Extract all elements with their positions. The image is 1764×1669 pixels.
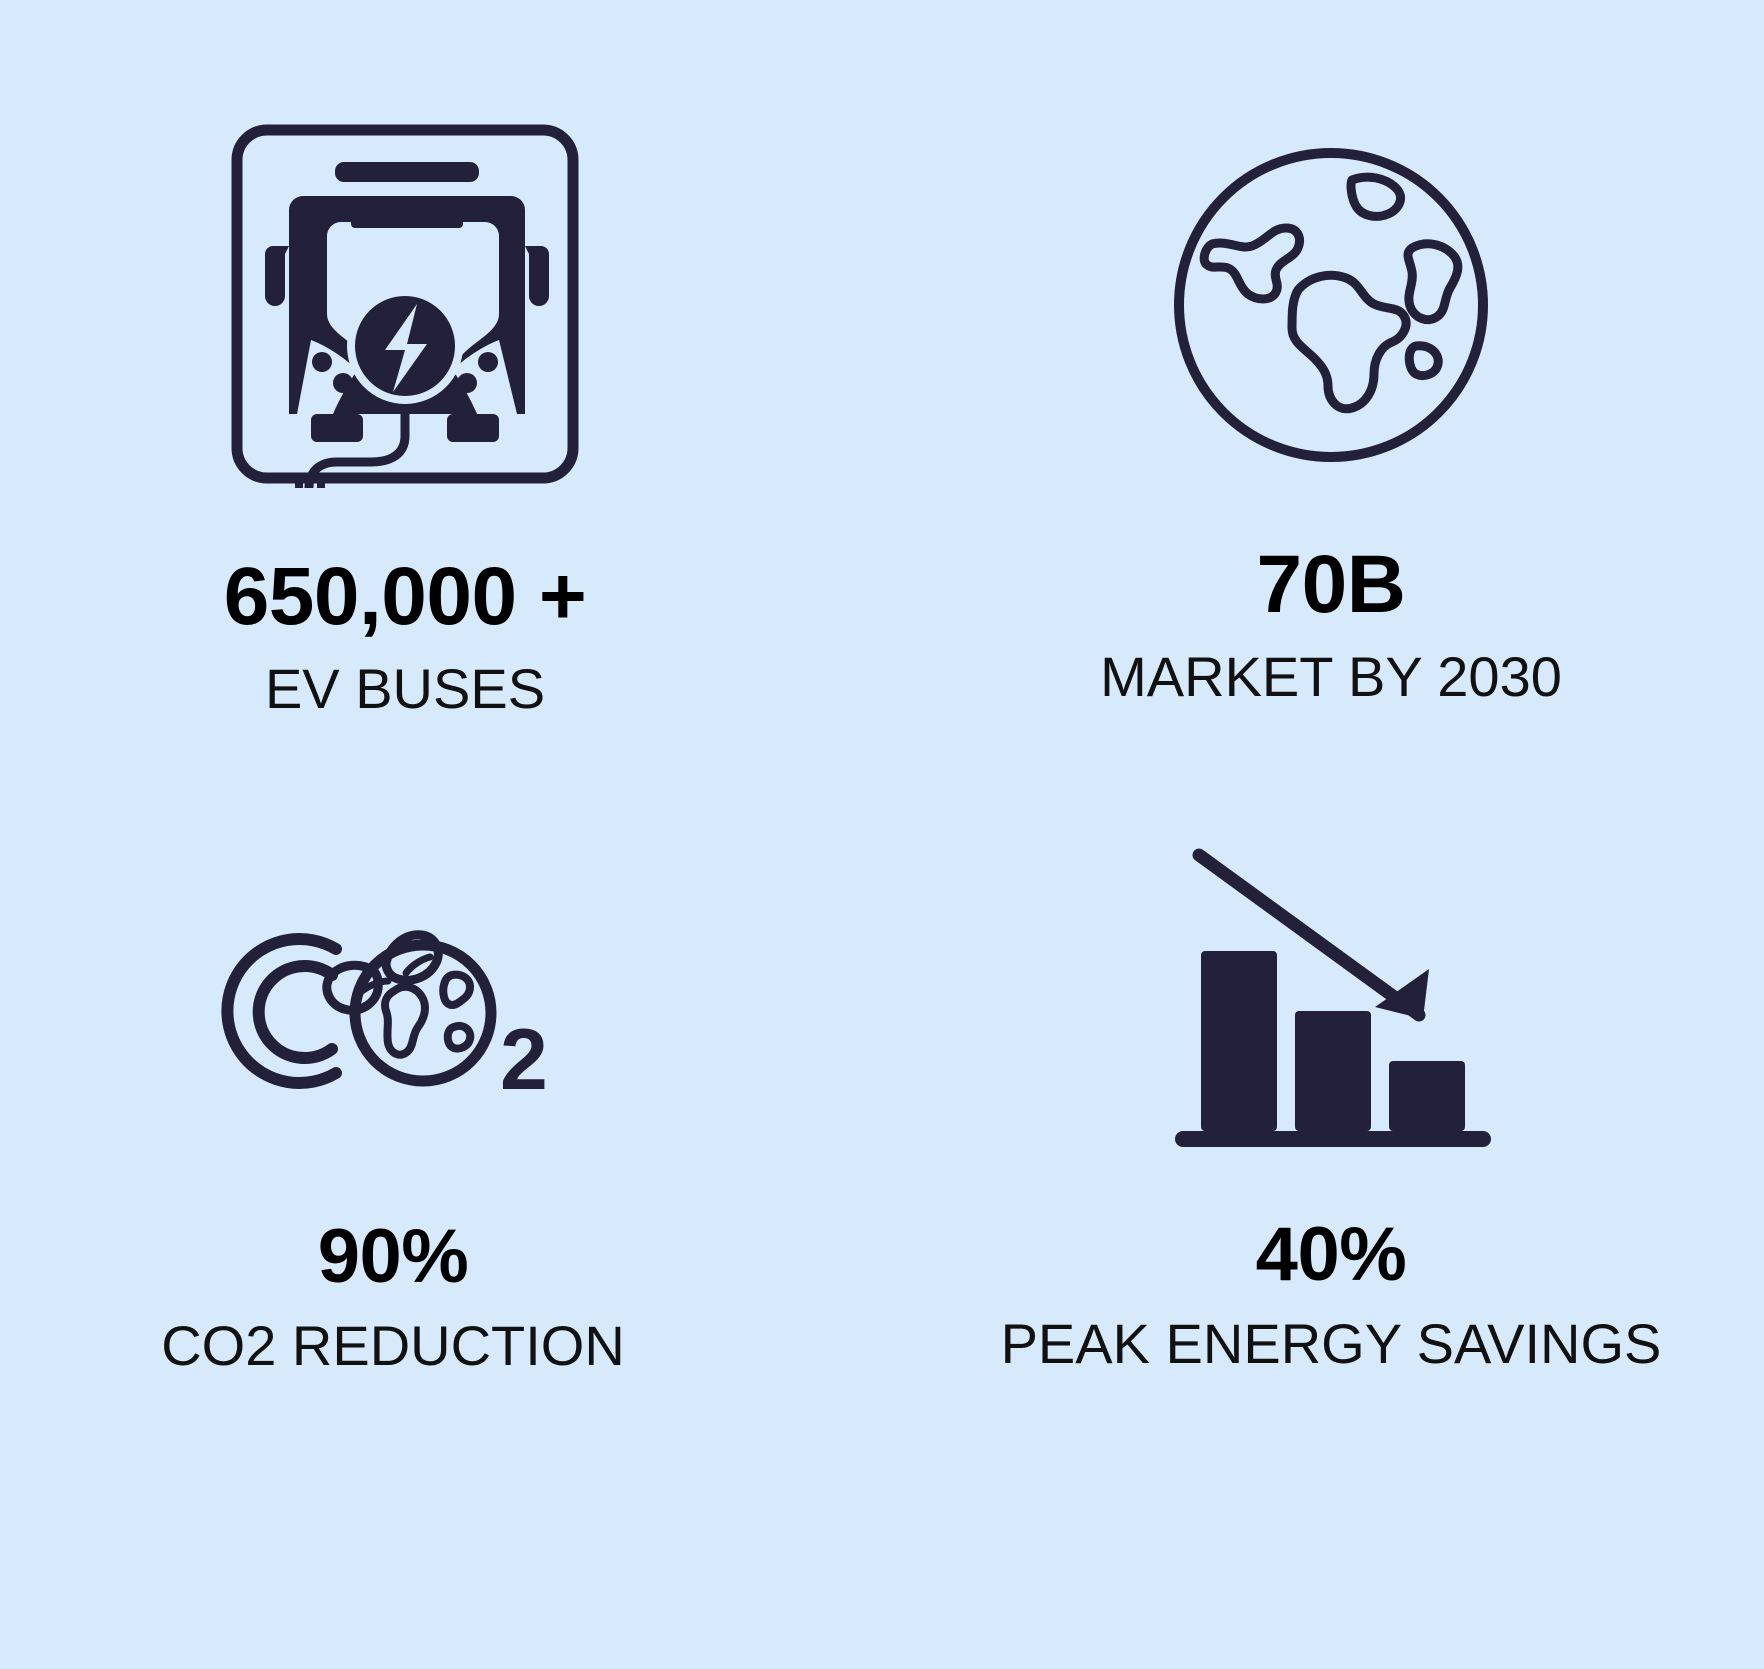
stat-value-peak-energy: 40%: [1256, 1217, 1407, 1293]
stat-value-co2: 90%: [318, 1219, 469, 1295]
globe-icon: [1166, 140, 1496, 470]
declining-bar-chart-icon: [1161, 845, 1501, 1155]
stat-card-ev-buses: 650,000 + EV BUSES: [0, 0, 882, 835]
stat-label-co2: CO2 REDUCTION: [161, 1315, 625, 1377]
stat-label-market: MARKET BY 2030: [1100, 646, 1562, 708]
stat-label-peak-energy: PEAK ENERGY SAVINGS: [1001, 1313, 1662, 1375]
stat-card-market: 70B MARKET BY 2030: [882, 0, 1764, 835]
co2-reduction-icon: 2: [208, 913, 578, 1123]
stat-value-ev-buses: 650,000 +: [224, 556, 587, 638]
ev-bus-charging-icon: [225, 118, 585, 488]
stat-value-market: 70B: [1257, 544, 1406, 626]
stat-card-peak-energy: 40% PEAK ENERGY SAVINGS: [882, 835, 1764, 1669]
stats-grid: 650,000 + EV BUSES: [0, 0, 1764, 1669]
stat-label-ev-buses: EV BUSES: [265, 658, 545, 720]
stat-card-co2: 2 90% CO2 REDUCTION: [0, 835, 882, 1669]
svg-text:2: 2: [500, 1012, 548, 1108]
